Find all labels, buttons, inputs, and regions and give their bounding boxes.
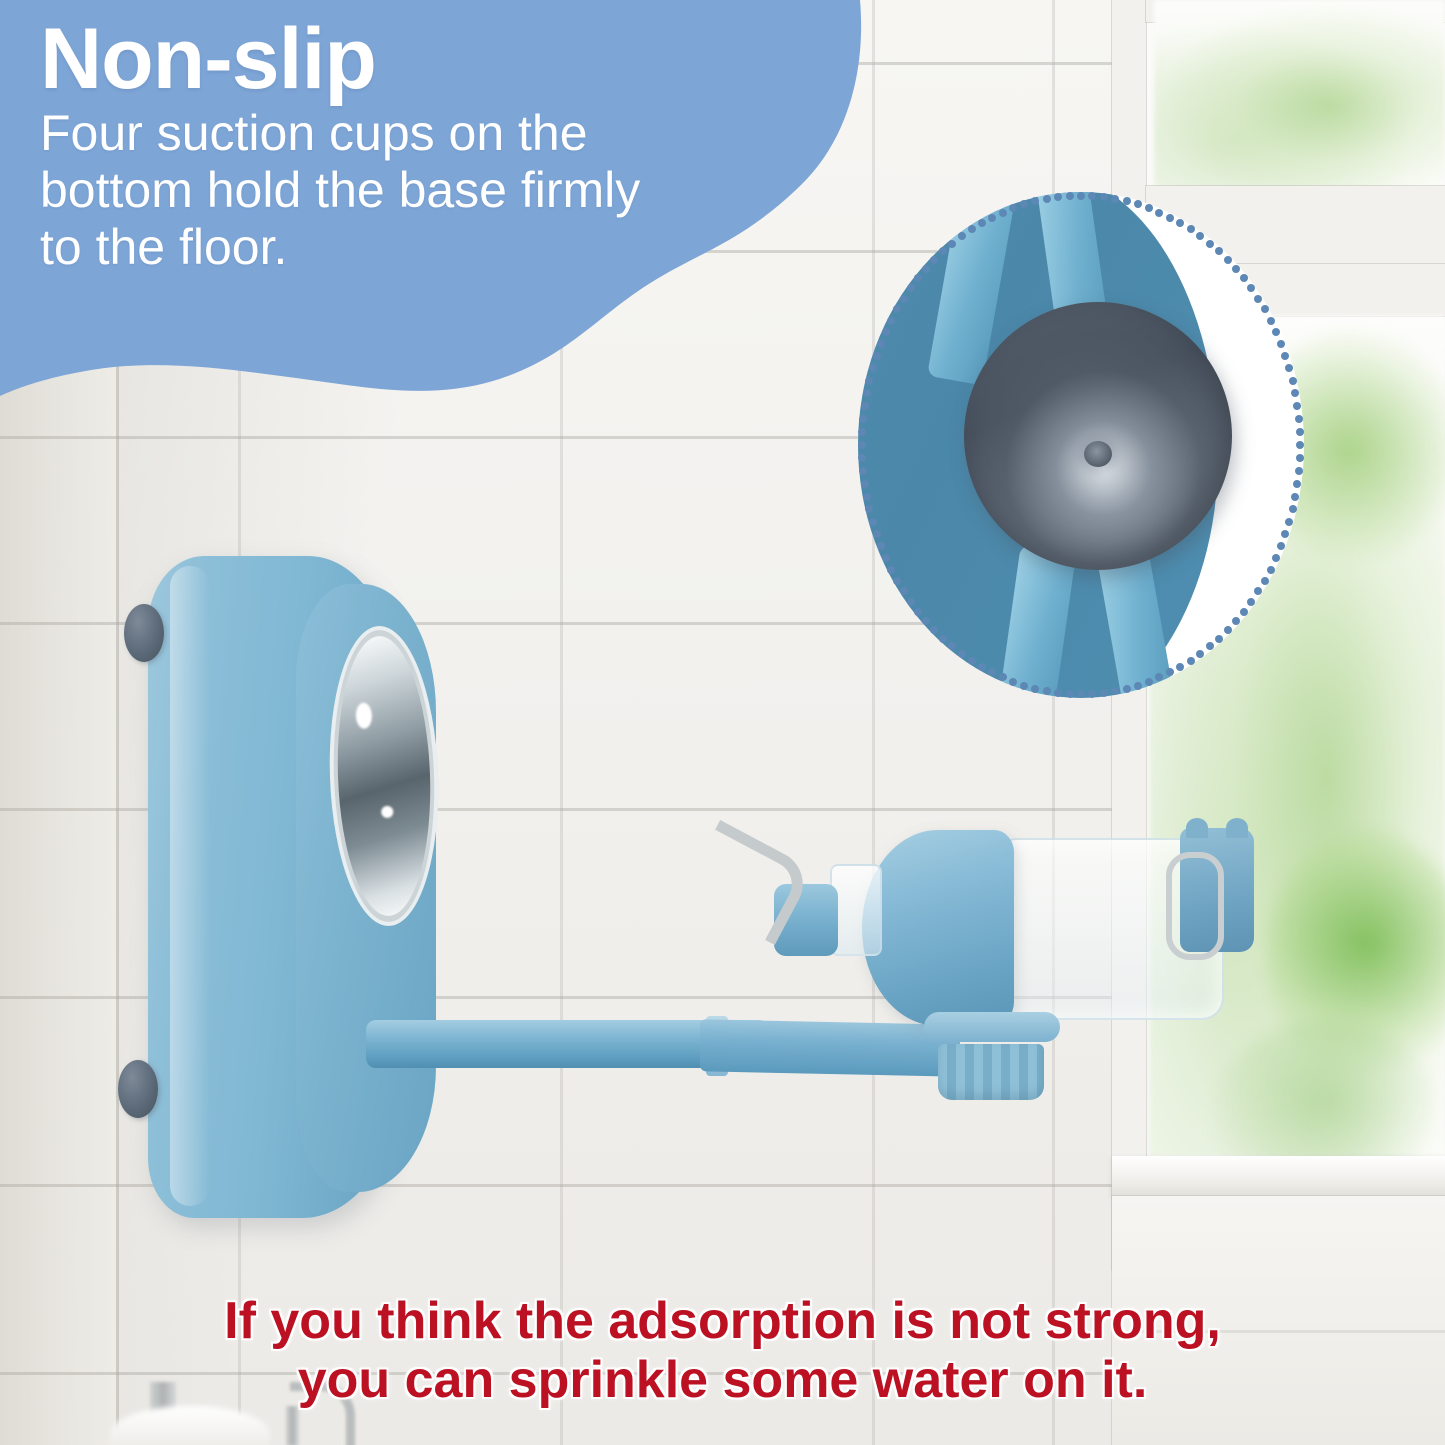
suction-cup-top xyxy=(124,604,164,662)
headline-body-text: Four suction cups on the bottom hold the… xyxy=(40,105,740,276)
window-pane-upper xyxy=(1154,0,1445,192)
threaded-base-nut xyxy=(938,1044,1044,1100)
wall-clip-ear xyxy=(1186,818,1208,838)
bottom-note-line-1: If you think the adsorption is not stron… xyxy=(0,1292,1445,1351)
suction-cup-closeup xyxy=(964,302,1232,570)
zoom-callout xyxy=(858,192,1304,698)
chrome-glint-icon xyxy=(381,806,393,818)
headline-copy-block: Non-slip Four suction cups on the bottom… xyxy=(40,18,800,276)
page-title: Non-slip xyxy=(40,18,800,101)
clip-wire-loop xyxy=(1166,852,1224,960)
support-rod-outer xyxy=(700,1019,960,1076)
suction-cup-bottom xyxy=(118,1060,158,1118)
mount-ring xyxy=(924,1012,1060,1042)
bottle-cap xyxy=(862,830,1014,1026)
bottom-note: If you think the adsorption is not stron… xyxy=(0,1292,1445,1411)
chrome-glint-icon xyxy=(355,702,372,729)
bottom-note-line-2: you can sprinkle some water on it. xyxy=(0,1351,1445,1410)
faucet-body xyxy=(286,1406,299,1445)
wall-clip-ear xyxy=(1226,818,1248,838)
wall-unit-rim-highlight xyxy=(170,566,210,1206)
headline-body-line: Four suction cups on the xyxy=(40,105,588,161)
headline-body-line: to the floor. xyxy=(40,219,287,275)
window-sill xyxy=(1112,1156,1445,1196)
product-marketing-image: Non-slip Four suction cups on the bottom… xyxy=(0,0,1445,1445)
zoom-callout-image xyxy=(858,192,1304,698)
headline-body-line: bottom hold the base firmly xyxy=(40,162,640,218)
suction-cup-center-nub xyxy=(1084,441,1112,467)
